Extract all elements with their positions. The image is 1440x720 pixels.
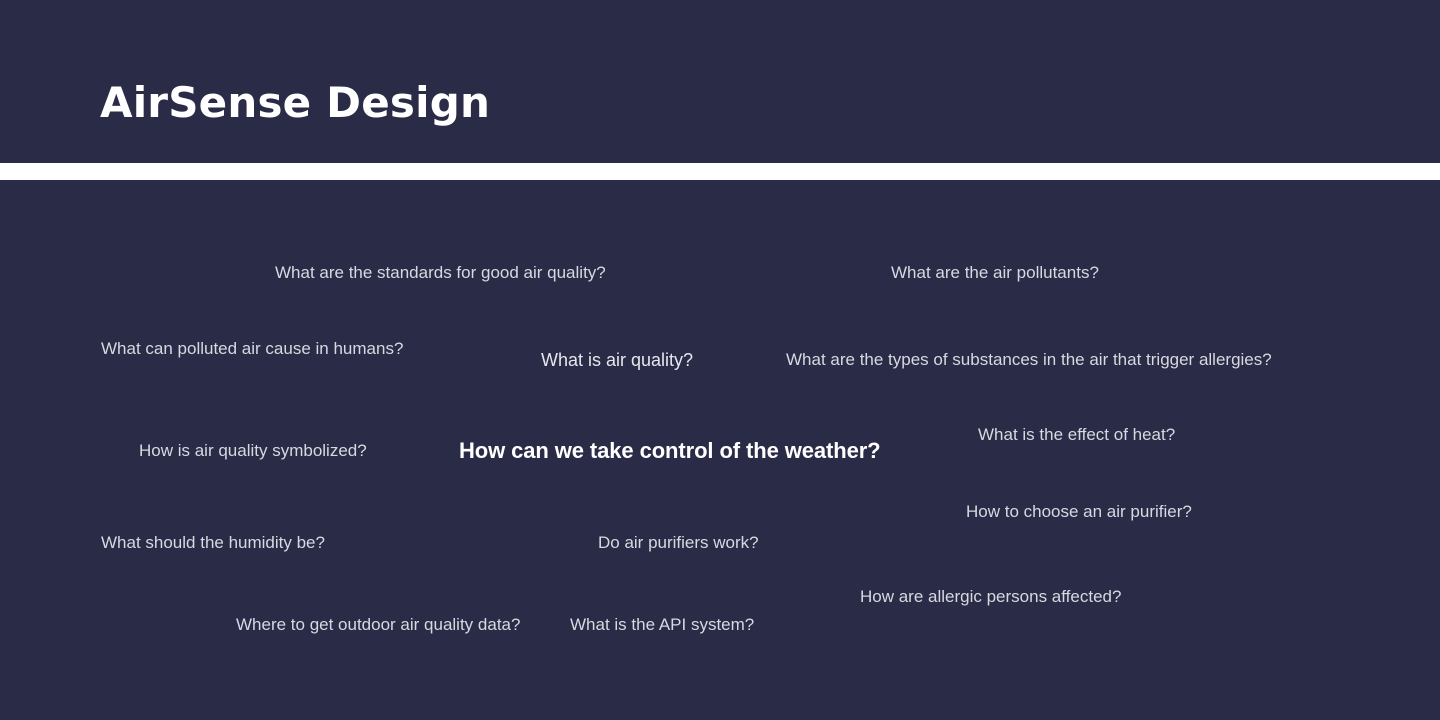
wordcloud-item[interactable]: What are the air pollutants? xyxy=(891,263,1099,283)
divider-strip xyxy=(0,163,1440,180)
wordcloud-item[interactable]: What should the humidity be? xyxy=(101,533,325,553)
wordcloud-item[interactable]: Do air purifiers work? xyxy=(598,533,759,553)
wordcloud-item[interactable]: What are the standards for good air qual… xyxy=(275,263,606,283)
wordcloud: What are the standards for good air qual… xyxy=(0,180,1440,720)
wordcloud-item[interactable]: What are the types of substances in the … xyxy=(786,350,1272,370)
wordcloud-item[interactable]: How can we take control of the weather? xyxy=(459,438,881,463)
page-title: AirSense Design xyxy=(100,82,490,124)
header-band: AirSense Design xyxy=(0,0,1440,163)
wordcloud-item[interactable]: How is air quality symbolized? xyxy=(139,441,367,461)
app-root: AirSense Design What are the standards f… xyxy=(0,0,1440,720)
wordcloud-item[interactable]: What is the effect of heat? xyxy=(978,425,1175,445)
wordcloud-item[interactable]: How to choose an air purifier? xyxy=(966,502,1192,522)
wordcloud-item[interactable]: Where to get outdoor air quality data? xyxy=(236,615,520,635)
wordcloud-item[interactable]: What is air quality? xyxy=(541,350,693,371)
wordcloud-item[interactable]: What can polluted air cause in humans? xyxy=(101,339,403,359)
wordcloud-item[interactable]: How are allergic persons affected? xyxy=(860,587,1121,607)
wordcloud-item[interactable]: What is the API system? xyxy=(570,615,754,635)
